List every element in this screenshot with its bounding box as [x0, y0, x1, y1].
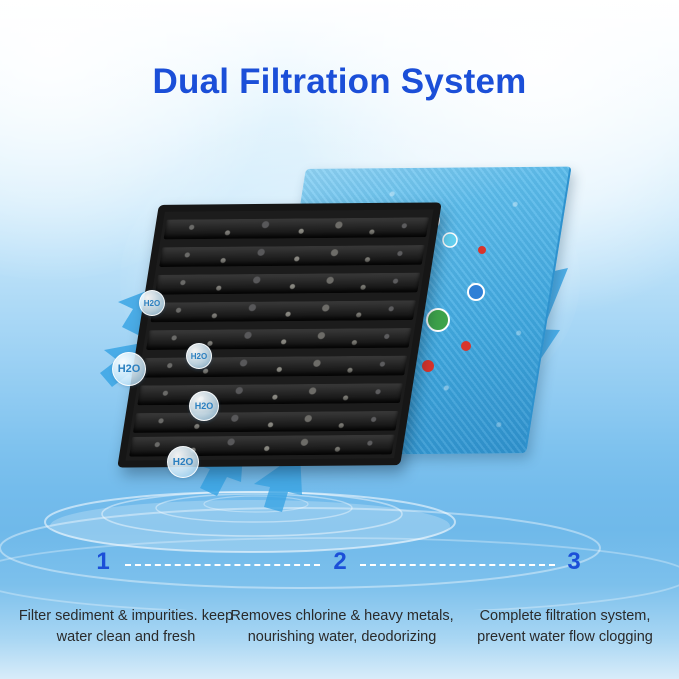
step-text-1: Filter sediment & impurities. keep water… [16, 606, 236, 648]
carbon-slat [146, 328, 412, 350]
step-number-3: 3 [557, 548, 591, 576]
h2o-bubble: H2O [189, 391, 219, 421]
page-title: Dual Filtration System [0, 62, 679, 102]
step-connector-line [360, 564, 555, 566]
h2o-bubble: H2O [167, 446, 199, 478]
h2o-bubble: H2O [112, 352, 146, 386]
step-text-2: Removes chlorine & heavy metals, nourish… [228, 606, 456, 648]
step-connector-line [125, 564, 320, 566]
carbon-slat [133, 411, 399, 433]
step-text-3: Complete filtration system, prevent wate… [460, 606, 670, 648]
carbon-slat [142, 356, 408, 378]
h2o-bubble: H2O [139, 290, 165, 316]
poster-canvas: Dual Filtration System [0, 0, 679, 679]
steps-section: 1 2 3 Filter sediment & impurities. keep… [0, 548, 679, 679]
step-number-2: 2 [323, 548, 357, 576]
filter-assembly [95, 170, 595, 490]
carbon-slat [164, 217, 430, 239]
step-number-1: 1 [86, 548, 120, 576]
carbon-slat [155, 273, 421, 295]
step-numbers-row: 1 2 3 [0, 548, 679, 582]
activated-carbon-filter [117, 202, 441, 467]
carbon-slat [137, 383, 403, 405]
carbon-slat [150, 300, 416, 322]
carbon-slat [159, 245, 425, 267]
h2o-bubble: H2O [186, 343, 212, 369]
